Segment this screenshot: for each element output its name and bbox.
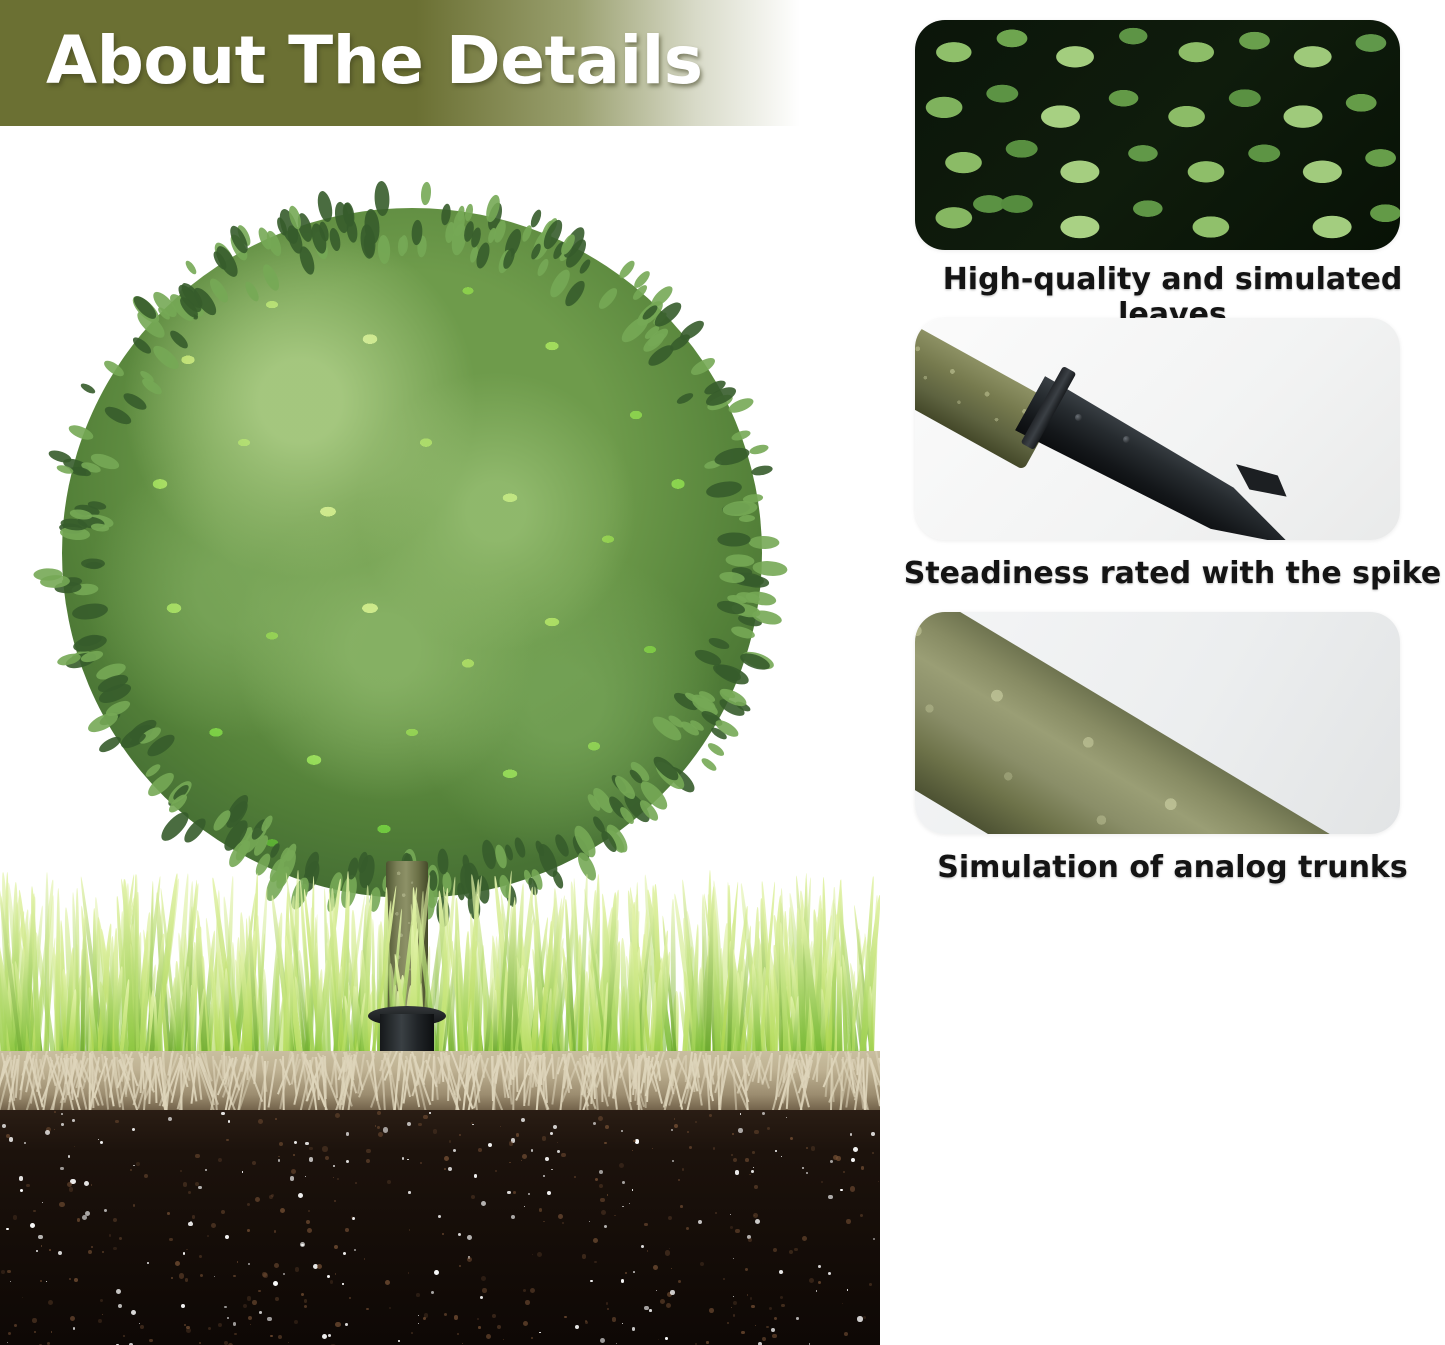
soil-speck: [453, 1149, 456, 1152]
soil-speck: [218, 1323, 222, 1327]
soil-speck: [457, 1333, 460, 1336]
soil-speck: [351, 1216, 354, 1219]
soil-speck: [345, 1323, 348, 1326]
soil-speck: [561, 1153, 565, 1157]
soil-speck: [74, 1146, 75, 1147]
soil-cross-section: [0, 1110, 880, 1345]
product-detail-infographic: About The Details High-quality and simul…: [0, 0, 1445, 1345]
soil-speck: [317, 1264, 322, 1269]
soil-speck: [516, 1133, 520, 1137]
soil-speck: [857, 1316, 862, 1321]
soil-speck: [418, 1315, 420, 1317]
soil-speck: [8, 1332, 11, 1335]
soil-speck: [467, 1235, 472, 1240]
soil-speck: [621, 1130, 623, 1132]
soil-speck: [45, 1130, 50, 1135]
soil-speck: [621, 1279, 624, 1282]
soil-speck: [818, 1281, 821, 1284]
soil-speck: [507, 1191, 510, 1194]
soil-speck: [9, 1137, 14, 1142]
detail-panel-trunk: [915, 612, 1400, 834]
soil-speck: [754, 1130, 759, 1135]
soil-speck: [13, 1215, 18, 1220]
soil-speck: [474, 1174, 478, 1178]
soil-speck: [607, 1194, 609, 1196]
soil-speck: [754, 1185, 758, 1189]
soil-speck: [366, 1159, 370, 1163]
soil-speck: [745, 1158, 749, 1162]
soil-speck: [38, 1235, 43, 1240]
soil-speck: [593, 1122, 596, 1125]
soil-speck: [54, 1111, 56, 1113]
soil-speck: [674, 1118, 676, 1120]
soil-speck: [258, 1290, 260, 1292]
soil-speck: [872, 1152, 875, 1155]
soil-speck: [606, 1302, 609, 1305]
foliage-sprig: [751, 464, 774, 478]
soil-speck: [582, 1254, 587, 1259]
soil-speck: [248, 1263, 250, 1265]
soil-speck: [668, 1216, 672, 1220]
soil-speck: [769, 1307, 772, 1310]
soil-speck: [58, 1251, 62, 1255]
soil-speck: [387, 1180, 391, 1184]
soil-speck: [82, 1215, 87, 1220]
soil-speck: [557, 1142, 559, 1144]
soil-speck: [762, 1112, 765, 1115]
soil-speck: [653, 1265, 658, 1270]
soil-speck: [733, 1296, 734, 1297]
soil-speck: [175, 1261, 180, 1266]
soil-speck: [69, 1278, 71, 1280]
soil-speck: [641, 1245, 644, 1248]
soil-speck: [730, 1226, 733, 1229]
soil-speck: [562, 1222, 565, 1225]
soil-speck: [853, 1147, 858, 1152]
soil-speck: [233, 1275, 236, 1278]
soil-speck: [781, 1304, 785, 1308]
grass-blade: [290, 954, 293, 1056]
soil-speck: [294, 1141, 297, 1144]
foliage-sprig: [738, 650, 772, 672]
soil-speck: [250, 1324, 251, 1325]
soil-speck: [100, 1141, 103, 1144]
soil-speck: [7, 1342, 8, 1343]
soil-speck: [252, 1300, 257, 1305]
soil-speck: [133, 1165, 134, 1166]
foliage-sprig: [617, 258, 637, 280]
soil-speck: [70, 1316, 75, 1321]
soil-speck: [273, 1281, 278, 1286]
soil-speck: [478, 1326, 481, 1329]
soil-speck: [850, 1133, 853, 1136]
soil-speck: [747, 1294, 749, 1296]
soil-speck: [433, 1129, 438, 1134]
soil-speck: [478, 1148, 482, 1152]
detail-caption-spike: Steadiness rated with the spike: [900, 556, 1445, 591]
soil-speck: [796, 1317, 799, 1320]
soil-speck: [98, 1139, 99, 1140]
soil-speck: [408, 1272, 410, 1274]
soil-speck: [205, 1169, 207, 1171]
soil-speck: [61, 1113, 63, 1115]
thatch-strand: [268, 1059, 277, 1108]
soil-speck: [605, 1125, 609, 1129]
soil-speck: [409, 1229, 411, 1231]
detail-caption-trunk: Simulation of analog trunks: [900, 850, 1445, 885]
soil-speck: [633, 1140, 635, 1142]
soil-speck: [733, 1301, 737, 1305]
soil-speck: [335, 1273, 337, 1275]
foliage-sprig: [421, 181, 432, 205]
soil-speck: [243, 1304, 247, 1308]
soil-speck: [267, 1317, 272, 1322]
soil-speck: [98, 1319, 102, 1323]
soil-speck: [732, 1133, 735, 1136]
soil-speck: [454, 1315, 459, 1320]
soil-speck: [678, 1179, 680, 1181]
soil-speck: [709, 1308, 714, 1313]
soil-speck: [91, 1246, 93, 1248]
soil-speck: [402, 1157, 404, 1159]
soil-speck: [674, 1124, 678, 1128]
soil-speck: [69, 1187, 73, 1191]
soil-speck: [828, 1195, 833, 1200]
soil-speck: [828, 1272, 831, 1275]
soil-speck: [448, 1167, 452, 1171]
soil-speck: [790, 1137, 793, 1140]
soil-speck: [706, 1341, 708, 1343]
soil-speck: [523, 1289, 527, 1293]
soil-speck: [574, 1176, 576, 1178]
soil-speck: [30, 1223, 35, 1228]
soil-speck: [733, 1158, 737, 1162]
foliage-sprig: [80, 382, 97, 395]
soil-speck: [616, 1343, 617, 1344]
soil-speck: [671, 1129, 673, 1131]
soil-speck: [54, 1129, 55, 1130]
soil-speck: [671, 1268, 672, 1269]
grass-blade: [493, 990, 497, 1056]
soil-speck: [307, 1228, 312, 1233]
hero-product-scene: [0, 126, 880, 1345]
soil-speck: [523, 1321, 528, 1326]
foliage-sprig: [705, 741, 725, 758]
soil-speck: [308, 1210, 311, 1213]
soil-speck: [633, 1271, 635, 1273]
soil-speck: [208, 1327, 212, 1331]
soil-speck: [280, 1208, 285, 1213]
soil-speck: [102, 1314, 103, 1315]
soil-speck: [462, 1343, 463, 1344]
soil-speck: [181, 1304, 185, 1308]
soil-speck: [622, 1181, 625, 1184]
soil-speck: [48, 1300, 53, 1305]
soil-speck: [735, 1170, 740, 1175]
soil-speck: [809, 1278, 814, 1283]
soil-speck: [389, 1307, 391, 1309]
soil-speck: [294, 1320, 298, 1324]
soil-speck: [119, 1237, 123, 1241]
soil-speck: [68, 1155, 70, 1157]
soil-speck: [275, 1297, 279, 1301]
soil-speck: [442, 1233, 444, 1235]
soil-speck: [752, 1151, 755, 1154]
soil-speck: [595, 1178, 599, 1182]
soil-speck: [525, 1300, 530, 1305]
soil-speck: [322, 1334, 327, 1339]
soil-speck: [218, 1158, 222, 1162]
soil-speck: [345, 1228, 349, 1232]
soil-speck: [542, 1136, 547, 1141]
soil-speck: [649, 1309, 652, 1312]
soil-speck: [263, 1273, 267, 1277]
soil-speck: [727, 1322, 729, 1324]
soil-speck: [59, 1202, 64, 1207]
soil-speck: [334, 1245, 338, 1249]
soil-speck: [115, 1120, 118, 1123]
soil-speck: [333, 1165, 335, 1167]
soil-speck: [335, 1113, 340, 1118]
soil-speck: [131, 1310, 136, 1315]
soil-speck: [259, 1311, 262, 1314]
soil-speck: [41, 1245, 43, 1247]
foliage-sprig: [699, 757, 718, 774]
spike-photo-rivet: [1123, 436, 1130, 443]
soil-speck: [337, 1178, 339, 1180]
soil-speck: [678, 1280, 681, 1283]
soil-speck: [304, 1299, 308, 1303]
soil-speck: [73, 1327, 75, 1329]
soil-speck: [32, 1318, 36, 1322]
soil-speck: [309, 1147, 312, 1150]
soil-speck: [288, 1342, 289, 1343]
soil-speck: [687, 1131, 690, 1134]
soil-speck: [247, 1203, 250, 1206]
soil-speck: [407, 1159, 409, 1161]
soil-speck: [100, 1299, 103, 1302]
soil-speck: [306, 1220, 310, 1224]
soil-speck: [247, 1296, 252, 1301]
soil-speck: [593, 1238, 598, 1243]
soil-speck: [775, 1150, 777, 1152]
soil-speck: [444, 1313, 447, 1316]
soil-speck: [278, 1156, 280, 1158]
soil-speck: [774, 1317, 777, 1320]
soil-speck: [301, 1293, 304, 1296]
soil-speck: [136, 1162, 140, 1166]
foliage-sprig: [97, 734, 123, 756]
soil-speck: [26, 1184, 29, 1187]
soil-speck: [531, 1149, 534, 1152]
soil-speck: [444, 1156, 449, 1161]
soil-speck: [346, 1160, 349, 1163]
soil-speck: [528, 1193, 530, 1195]
soil-speck: [869, 1283, 872, 1286]
soil-speck: [10, 1281, 11, 1282]
soil-speck: [811, 1146, 816, 1151]
soil-speck: [377, 1111, 381, 1115]
soil-speck: [749, 1174, 751, 1176]
soil-speck: [104, 1209, 107, 1212]
soil-speck: [666, 1303, 671, 1308]
soil-speck: [274, 1230, 277, 1233]
soil-speck: [423, 1115, 427, 1119]
soil-speck: [585, 1320, 587, 1322]
soil-speck: [731, 1307, 732, 1308]
soil-speck: [6, 1228, 9, 1231]
soil-speck: [449, 1140, 451, 1142]
soil-speck: [247, 1229, 250, 1232]
soil-speck: [184, 1324, 186, 1326]
soil-speck: [482, 1288, 487, 1293]
soil-speck: [46, 1281, 48, 1283]
soil-speck: [327, 1275, 330, 1278]
soil-speck: [1, 1270, 5, 1274]
soil-speck: [709, 1114, 712, 1117]
foliage-sprig: [749, 442, 770, 456]
soil-speck: [305, 1142, 309, 1146]
grass-blade: [75, 888, 80, 1056]
soil-speck: [700, 1262, 704, 1266]
soil-speck: [458, 1233, 461, 1236]
soil-speck: [424, 1313, 429, 1318]
soil-speck: [753, 1167, 754, 1168]
detail-panel-leaves: [915, 20, 1400, 250]
soil-speck: [385, 1280, 390, 1285]
thatch-strands: [0, 1051, 880, 1113]
foliage-sprig: [80, 558, 104, 569]
soil-speck: [851, 1158, 856, 1163]
soil-speck: [438, 1215, 441, 1218]
soil-speck: [682, 1168, 685, 1171]
soil-speck: [481, 1276, 486, 1281]
soil-speck: [806, 1147, 808, 1149]
soil-speck: [132, 1128, 135, 1131]
soil-speck: [622, 1206, 623, 1207]
soil-speck: [408, 1191, 411, 1194]
soil-speck: [625, 1272, 628, 1275]
soil-speck: [488, 1143, 493, 1148]
soil-speck: [590, 1280, 592, 1282]
soil-speck: [539, 1208, 543, 1212]
soil-speck: [557, 1150, 560, 1153]
soil-speck: [377, 1126, 380, 1129]
soil-speck: [632, 1189, 634, 1191]
soil-speck: [366, 1149, 371, 1154]
soil-speck: [328, 1334, 331, 1337]
soil-speck: [383, 1127, 388, 1132]
soil-speck: [772, 1334, 777, 1339]
soil-speck: [139, 1323, 141, 1325]
soil-speck: [255, 1197, 260, 1202]
soil-speck: [794, 1248, 797, 1251]
soil-speck: [543, 1175, 545, 1177]
soil-speck: [179, 1273, 184, 1278]
soil-speck: [524, 1206, 525, 1207]
grass-blade: [852, 971, 856, 1056]
soil-speck: [558, 1214, 563, 1219]
soil-speck: [248, 1316, 252, 1320]
soil-speck: [459, 1265, 461, 1267]
soil-speck: [619, 1163, 624, 1168]
soil-speck: [200, 1274, 203, 1277]
soil-speck: [305, 1176, 306, 1177]
foliage-sprig: [184, 260, 199, 277]
soil-speck: [589, 1221, 590, 1222]
soil-speck: [665, 1337, 668, 1340]
soil-speck: [599, 1170, 603, 1174]
soil-speck: [60, 1167, 64, 1171]
soil-speck: [509, 1162, 511, 1164]
soil-speck: [188, 1222, 192, 1226]
soil-speck: [789, 1250, 793, 1254]
thatch-strand: [512, 1051, 515, 1112]
soil-speck: [234, 1333, 237, 1336]
leaves-closeup-image: [915, 20, 1400, 250]
soil-speck: [550, 1132, 553, 1135]
soil-speck: [612, 1317, 617, 1322]
soil-speck: [871, 1132, 875, 1136]
soil-speck: [511, 1215, 515, 1219]
soil-speck: [233, 1322, 237, 1326]
soil-speck: [471, 1122, 473, 1124]
soil-speck: [226, 1139, 229, 1142]
soil-speck: [543, 1221, 544, 1222]
soil-speck: [228, 1120, 231, 1123]
soil-speck: [77, 1218, 80, 1221]
soil-speck: [183, 1182, 188, 1187]
soil-speck: [530, 1288, 535, 1293]
soil-speck: [762, 1337, 766, 1341]
soil-speck: [600, 1198, 605, 1203]
soil-speck: [242, 1171, 244, 1173]
soil-speck: [224, 1341, 228, 1345]
soil-speck: [601, 1210, 606, 1215]
soil-speck: [735, 1229, 740, 1234]
soil-speck: [271, 1194, 274, 1197]
soil-speck: [486, 1334, 491, 1339]
soil-speck: [652, 1148, 653, 1149]
soil-speck: [733, 1258, 734, 1259]
soil-speck: [873, 1238, 875, 1240]
soil-speck: [575, 1325, 579, 1329]
soil-speck: [629, 1203, 630, 1204]
soil-speck: [471, 1195, 475, 1199]
soil-speck: [258, 1119, 263, 1124]
soil-speck: [503, 1339, 504, 1340]
soil-speck: [513, 1191, 516, 1194]
soil-speck: [186, 1249, 188, 1251]
soil-speck: [72, 1119, 75, 1122]
soil-speck: [333, 1177, 334, 1178]
soil-speck: [183, 1252, 186, 1255]
soil-speck: [551, 1169, 553, 1171]
soil-speck: [364, 1258, 366, 1260]
soil-speck: [283, 1273, 285, 1275]
soil-speck: [553, 1125, 557, 1129]
soil-speck: [698, 1220, 702, 1224]
detail-panels: High-quality and simulated leaves Steadi…: [900, 0, 1445, 1345]
soil-speck: [713, 1147, 716, 1150]
soil-speck: [786, 1117, 787, 1118]
soil-speck: [434, 1270, 439, 1275]
soil-speck: [755, 1325, 756, 1326]
soil-speck: [497, 1325, 501, 1329]
soil-speck: [355, 1182, 357, 1184]
trunk-closeup-texture: [915, 612, 1400, 834]
soil-speck: [140, 1325, 144, 1329]
